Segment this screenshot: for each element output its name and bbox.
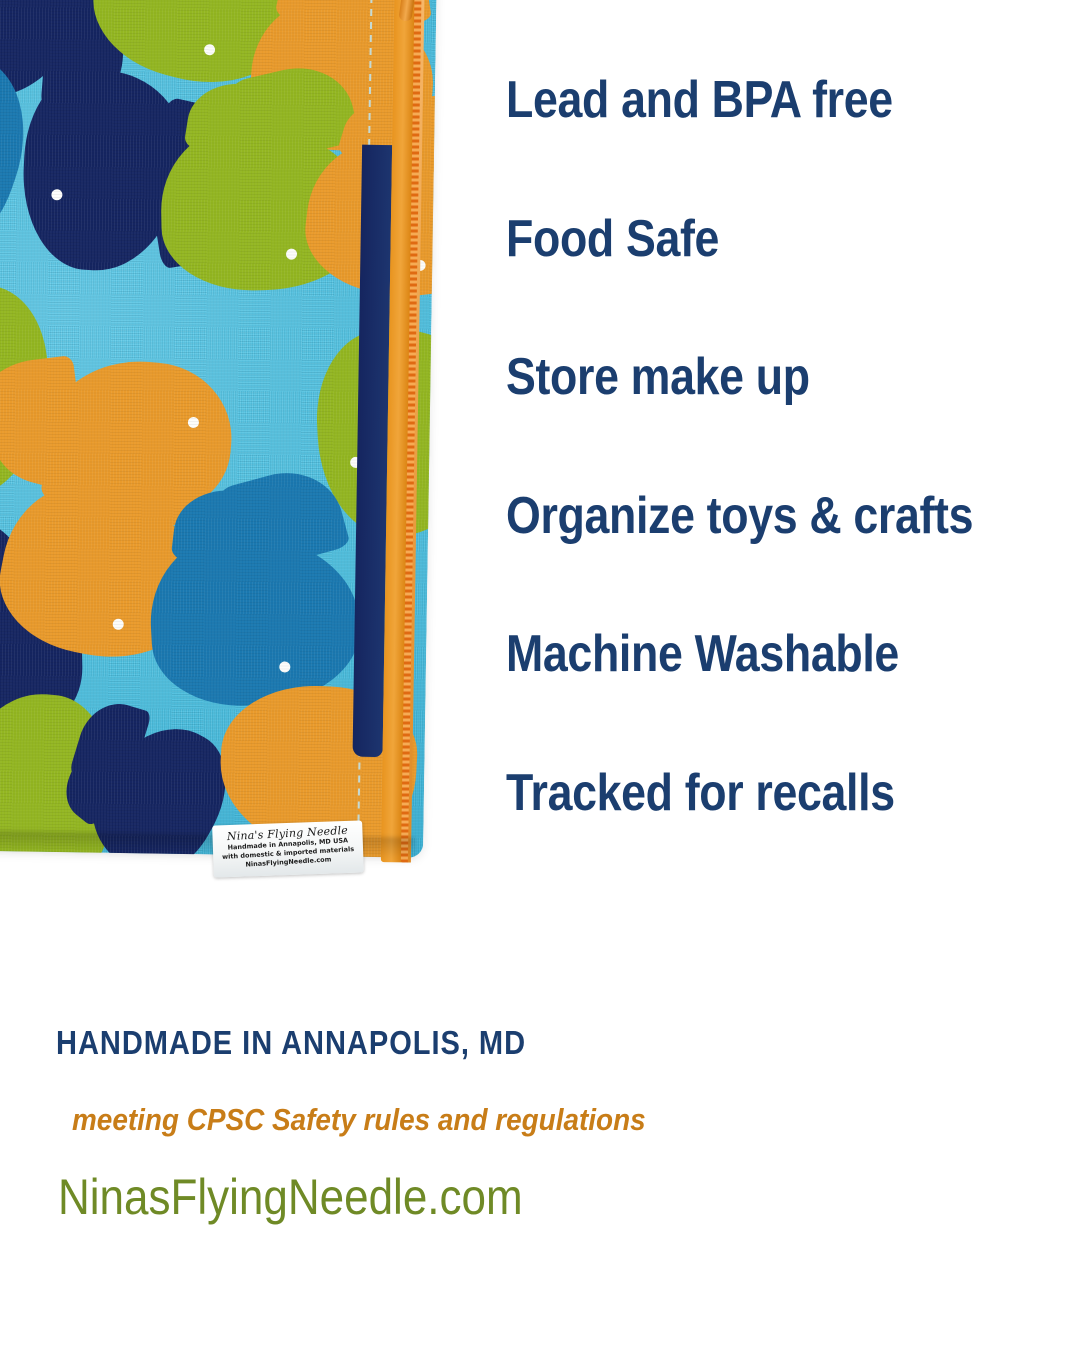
handmade-location-text: HANDMADE IN ANNAPOLIS, MD	[56, 1024, 848, 1062]
website-url-text[interactable]: NinasFlyingNeedle.com	[58, 1168, 848, 1226]
feature-item-lead-bpa-free: Lead and BPA free	[506, 74, 988, 213]
feature-item-store-make-up: Store make up	[506, 351, 988, 490]
footer-block: HANDMADE IN ANNAPOLIS, MD meeting CPSC S…	[56, 1024, 956, 1226]
feature-item-food-safe: Food Safe	[506, 213, 988, 352]
feature-item-machine-washable: Machine Washable	[506, 628, 988, 767]
feature-list: Lead and BPA free Food Safe Store make u…	[506, 74, 1066, 905]
zipper-pouch	[0, 0, 477, 863]
brand-fabric-label: Nina's Flying Needle Handmade in Annapol…	[212, 820, 364, 877]
feature-item-organize-toys: Organize toys & crafts	[506, 490, 988, 629]
product-photo: Nina's Flying Needle Handmade in Annapol…	[0, 0, 492, 900]
cpsc-compliance-text: meeting CPSC Safety rules and regulation…	[72, 1102, 868, 1138]
feature-item-tracked-recalls: Tracked for recalls	[506, 767, 988, 906]
